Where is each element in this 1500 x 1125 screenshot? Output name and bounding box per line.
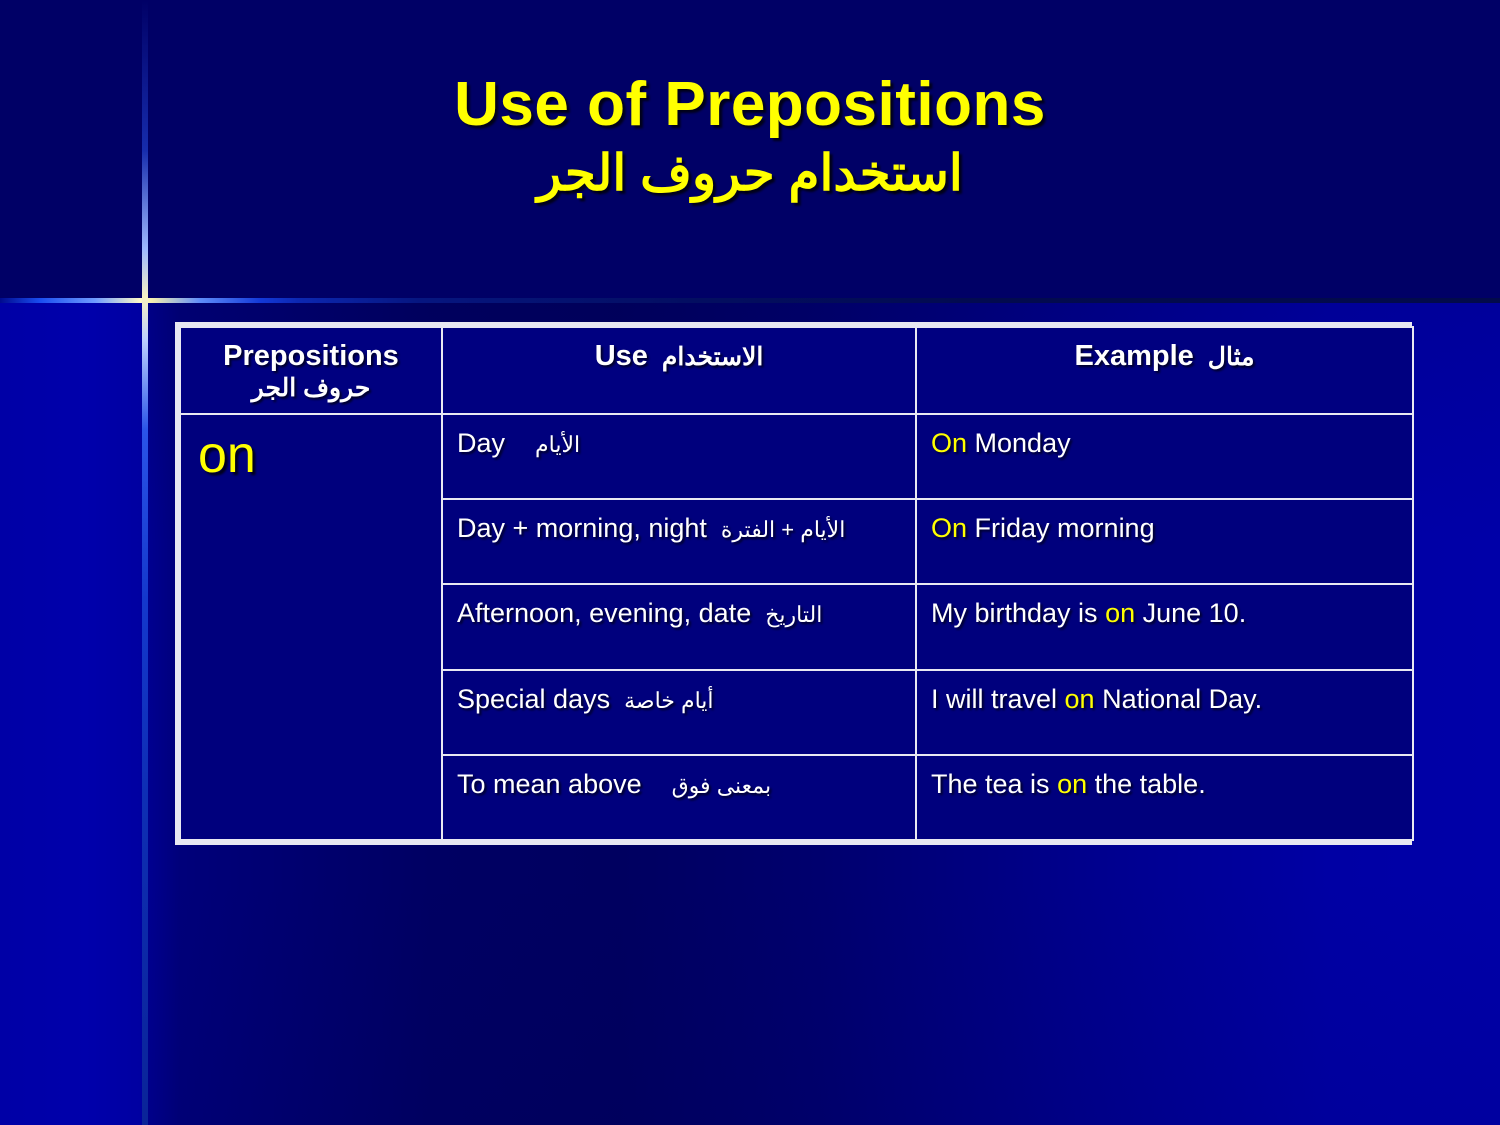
use-text-ar: الأيام [535,432,580,457]
example-cell: The tea is on the table. [916,755,1413,840]
use-text-ar: أيام خاصة [624,688,713,713]
example-highlight: on [1057,769,1087,799]
example-prefix: My birthday is [931,598,1105,628]
use-text-en: To mean above [457,769,642,799]
table-header-example: Exampleمثال [916,327,1413,414]
background-top [0,0,1500,300]
use-cell: Afternoon, evening, dateالتاريخ [442,584,916,669]
use-text-ar: بمعنى فوق [672,773,772,798]
example-suffix: National Day. [1095,684,1263,714]
example-suffix: the table. [1087,769,1206,799]
example-cell: My birthday is on June 10. [916,584,1413,669]
use-text-en: Afternoon, evening, date [457,598,751,628]
example-prefix: I will travel [931,684,1065,714]
table-header-row: Prepositions حروف الجر Useالاستخدام [180,327,1413,414]
use-cell: To mean aboveبمعنى فوق [442,755,916,840]
vertical-accent-line [142,0,148,1125]
example-highlight: On [931,428,967,458]
preposition-label: on [198,426,256,484]
use-text-en: Day + morning, night [457,513,707,543]
use-cell: Dayالأيام [442,414,916,499]
example-prefix: The tea is [931,769,1057,799]
use-text-ar: الأيام + الفترة [721,517,845,542]
table-header: Prepositions حروف الجر Useالاستخدام [180,327,1413,414]
table-header-prepositions: Prepositions حروف الجر [180,327,442,414]
header-prepositions-ar: حروف الجر [189,373,433,403]
header-example-en: Example [1074,340,1193,372]
horizontal-accent-line [0,298,1500,303]
example-highlight: on [1065,684,1095,714]
use-text-en: Day [457,428,505,458]
table-header-use: Useالاستخدام [442,327,916,414]
table-body: on Dayالأيام On Monday [180,414,1413,840]
example-suffix: Friday morning [967,513,1155,543]
prepositions-table: Prepositions حروف الجر Useالاستخدام [179,326,1414,841]
example-cell: On Friday morning [916,499,1413,584]
header-use-ar: الاستخدام [662,343,763,371]
example-cell: On Monday [916,414,1413,499]
example-suffix: June 10. [1135,598,1246,628]
use-cell: Special daysأيام خاصة [442,670,916,755]
slide: Use of Prepositions استخدام حروف الجر Pr… [0,0,1500,1125]
prepositions-table-wrapper: Prepositions حروف الجر Useالاستخدام [175,322,1412,845]
use-cell: Day + morning, nightالأيام + الفترة [442,499,916,584]
preposition-cell: on [180,414,442,840]
example-highlight: On [931,513,967,543]
example-highlight: on [1105,598,1135,628]
table-row: on Dayالأيام On Monday [180,414,1413,499]
use-text-en: Special days [457,684,610,714]
header-use-en: Use [595,340,648,372]
background-left-band [0,300,145,1125]
header-example-ar: مثال [1208,343,1255,371]
example-cell: I will travel on National Day. [916,670,1413,755]
example-suffix: Monday [967,428,1071,458]
header-prepositions-en: Prepositions [189,340,433,373]
use-text-ar: التاريخ [765,602,822,627]
